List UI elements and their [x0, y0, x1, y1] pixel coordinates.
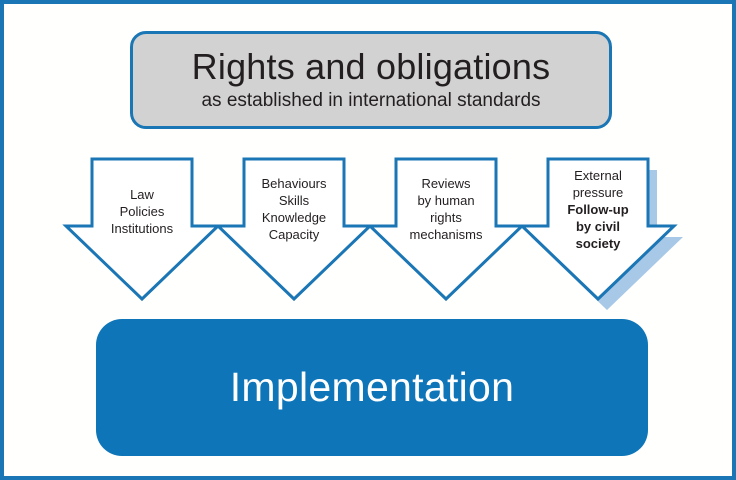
- arrow-external-pressure-follow-up-label-line: pressure: [523, 184, 673, 201]
- implementation-box: Implementation: [96, 319, 648, 456]
- arrow-behaviours-skills-knowledge-capacity-label-line: Capacity: [219, 226, 369, 243]
- arrow-law-policies-institutions-label-line: Policies: [67, 203, 217, 220]
- arrow-reviews-by-human-rights-mechanisms-label-line: rights: [371, 209, 521, 226]
- arrow-behaviours-skills-knowledge-capacity-label-line: Skills: [219, 192, 369, 209]
- arrow-behaviours-skills-knowledge-capacity-label: BehavioursSkillsKnowledgeCapacity: [219, 175, 369, 243]
- arrow-external-pressure-follow-up-label-line: society: [523, 235, 673, 252]
- arrow-reviews-by-human-rights-mechanisms-label-line: by human: [371, 192, 521, 209]
- arrow-reviews-by-human-rights-mechanisms-label: Reviewsby humanrightsmechanisms: [371, 175, 521, 243]
- arrow-external-pressure-follow-up-label-line: External: [523, 167, 673, 184]
- arrow-reviews-by-human-rights-mechanisms-label-line: mechanisms: [371, 226, 521, 243]
- arrow-law-policies-institutions-label-line: Law: [67, 186, 217, 203]
- arrow-external-pressure-follow-up-label-line: by civil: [523, 218, 673, 235]
- header-banner: Rights and obligations as established in…: [130, 31, 612, 129]
- arrow-reviews-by-human-rights-mechanisms-label-line: Reviews: [371, 175, 521, 192]
- diagram-frame: Rights and obligations as established in…: [0, 0, 736, 480]
- arrow-external-pressure-follow-up-label: ExternalpressureFollow-upby civilsociety: [523, 167, 673, 252]
- arrow-behaviours-skills-knowledge-capacity-label-line: Behaviours: [219, 175, 369, 192]
- page-subtitle: as established in international standard…: [201, 90, 540, 113]
- arrow-law-policies-institutions-label-line: Institutions: [67, 220, 217, 237]
- arrow-law-policies-institutions-label: LawPoliciesInstitutions: [67, 186, 217, 237]
- page-title: Rights and obligations: [192, 48, 551, 86]
- arrow-behaviours-skills-knowledge-capacity-label-line: Knowledge: [219, 209, 369, 226]
- arrow-external-pressure-follow-up-label-line: Follow-up: [523, 201, 673, 218]
- implementation-label: Implementation: [230, 367, 515, 408]
